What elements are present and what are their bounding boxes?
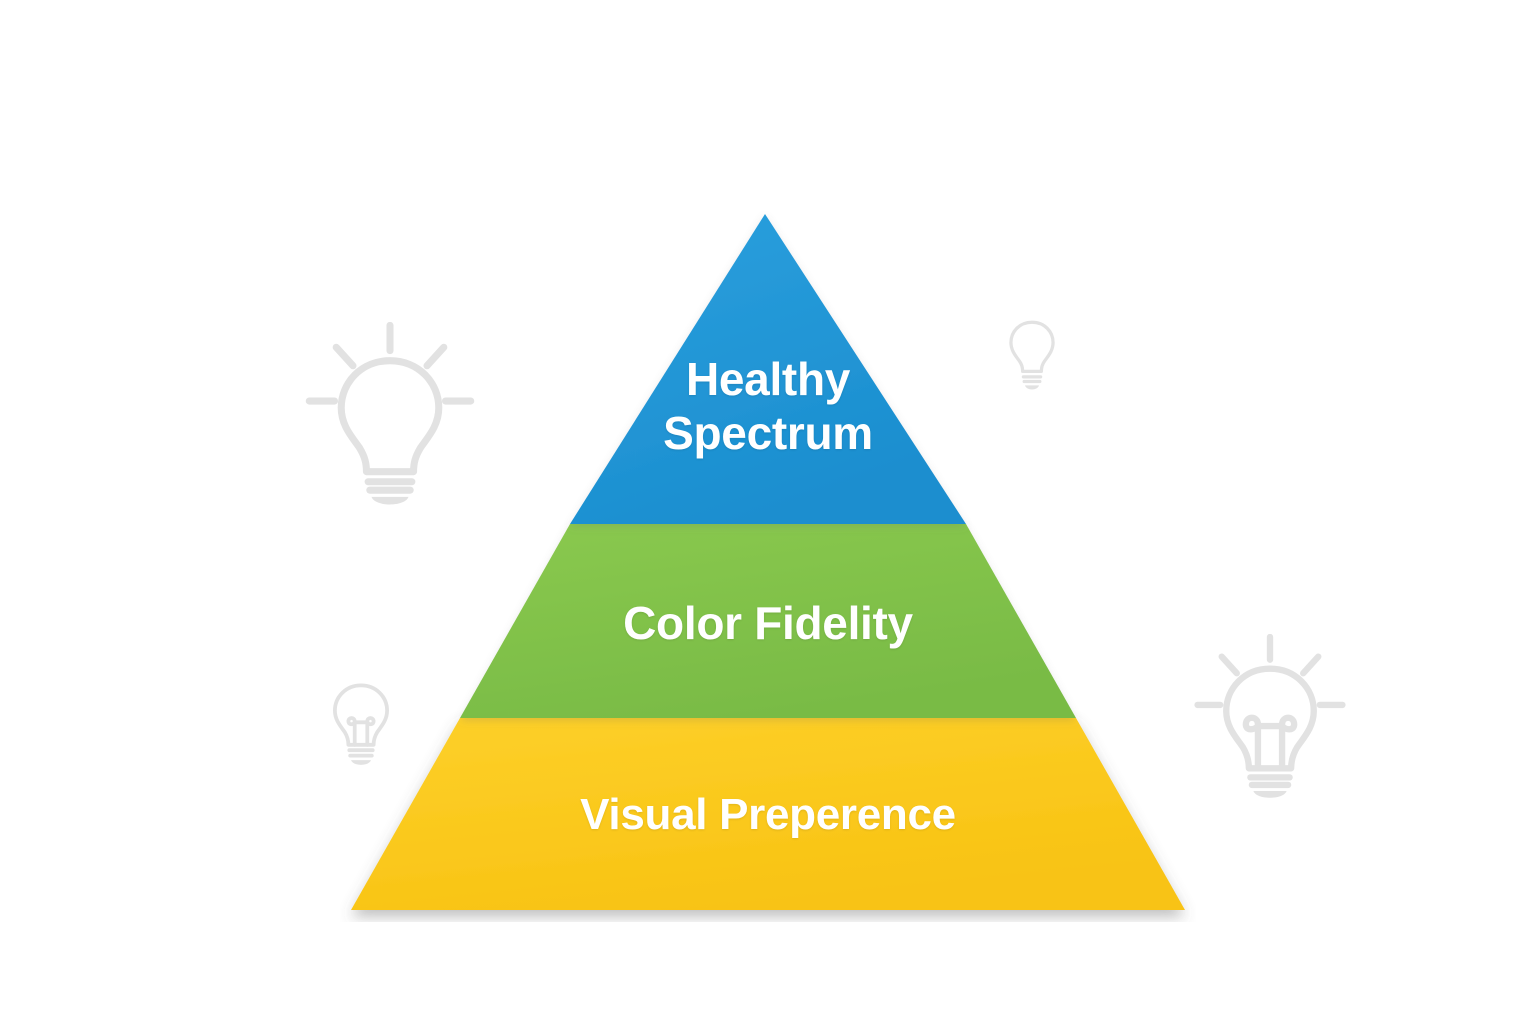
pyramid-tier-top [570,214,966,524]
lightbulb-icon-mid-right [1194,634,1346,800]
pyramid-tier-middle [460,524,1076,718]
diagram-canvas: Healthy Spectrum Color Fidelity Visual P… [0,0,1536,1024]
pyramid-tier-bottom [351,718,1185,910]
pyramid-diagram: Healthy Spectrum Color Fidelity Visual P… [340,206,1196,922]
